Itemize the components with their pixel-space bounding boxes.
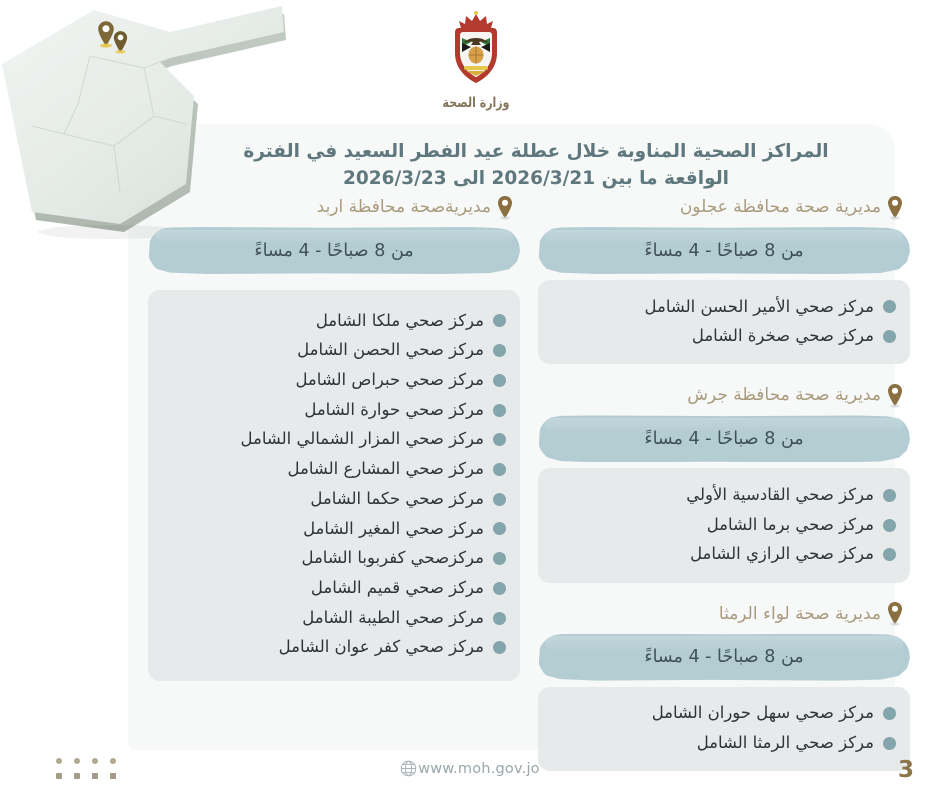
list-item: مركز صحي الطيبة الشامل — [162, 603, 506, 633]
center-name: مركز صحي حكما الشامل — [310, 486, 484, 513]
section-jerash: مديرية صحة محافظة جرش من 8 صباحًا - 4 مس… — [538, 378, 910, 582]
center-name: مركز صحي المزار الشمالي الشامل — [241, 426, 484, 453]
center-name: مركز صحي الأمير الحسن الشامل — [645, 294, 874, 321]
section-header: مديريةصحة محافظة اربد — [148, 190, 520, 224]
list-item: مركز صحي المزار الشمالي الشامل — [162, 425, 506, 455]
list-item: مركز صحي الحصن الشامل — [162, 336, 506, 366]
hours-text: من 8 صباحًا - 4 مساءً — [644, 647, 803, 667]
bullet-icon — [493, 404, 506, 417]
bullet-icon — [493, 582, 506, 595]
bullet-icon — [493, 314, 506, 327]
directorate-title: مديريةصحة محافظة اربد — [317, 197, 491, 217]
location-pin-icon-secondary — [112, 30, 129, 54]
location-pin-icon — [496, 195, 514, 220]
center-name: مركز صحي ملكا الشامل — [316, 308, 484, 335]
center-name: مركز صحي القادسية الأولي — [686, 482, 874, 509]
center-list: مركز صحي ملكا الشامل مركز صحي الحصن الشا… — [148, 290, 520, 681]
section-header: مديرية صحة لواء الرمثا — [538, 597, 910, 631]
list-item: مركز صحي الأمير الحسن الشامل — [552, 292, 896, 322]
bullet-icon — [493, 493, 506, 506]
title-line-2: الواقعة ما بين 2026/3/21 الى 2026/3/23 — [212, 165, 860, 192]
center-name: مركز صحي حوارة الشامل — [304, 397, 484, 424]
list-item: مركز صحي المغير الشامل — [162, 514, 506, 544]
center-name: مركز صحي سهل حوران الشامل — [652, 700, 874, 727]
hours-banner: من 8 صباحًا - 4 مساءً — [538, 634, 910, 681]
section-ramtha: مديرية صحة لواء الرمثا من 8 صباحًا - 4 م… — [538, 597, 910, 771]
bullet-icon — [493, 344, 506, 357]
list-item: مركزصحي كفربوبا الشامل — [162, 544, 506, 574]
center-list: مركز صحي الأمير الحسن الشامل مركز صحي صخ… — [538, 280, 910, 364]
section-header: مديرية صحة محافظة جرش — [538, 378, 910, 412]
center-list: مركز صحي سهل حوران الشامل مركز صحي الرمث… — [538, 687, 910, 771]
center-name: مركز صحي حبراص الشامل — [295, 367, 484, 394]
globe-icon — [400, 760, 417, 777]
page-title: المراكز الصحية المناوبة خلال عطلة عيد ال… — [212, 138, 860, 193]
infographic-page: وزارة الصحة المراكز الصحية المناوبة خلال… — [0, 0, 940, 788]
location-pin-icon — [886, 383, 904, 408]
list-item: مركز صحي حوارة الشامل — [162, 395, 506, 425]
center-name: مركز صحي قميم الشامل — [311, 575, 484, 602]
location-pin-icon — [886, 601, 904, 626]
bullet-icon — [493, 522, 506, 535]
column-left: مديريةصحة محافظة اربد من 8 صباحًا - 4 مس… — [148, 190, 520, 685]
bullet-icon — [883, 737, 896, 750]
bullet-icon — [883, 707, 896, 720]
list-item: مركز صحي قميم الشامل — [162, 573, 506, 603]
bullet-icon — [493, 433, 506, 446]
section-ajloun: مديرية صحة محافظة عجلون من 8 صباحًا - 4 … — [538, 190, 910, 364]
list-item: مركز صحي القادسية الأولي — [552, 480, 896, 510]
bullet-icon — [883, 300, 896, 313]
center-name: مركز صحي المشارع الشامل — [288, 456, 484, 483]
center-name: مركز صحي الرازي الشامل — [690, 541, 874, 568]
section-irbid: مديريةصحة محافظة اربد من 8 صباحًا - 4 مس… — [148, 190, 520, 681]
bullet-icon — [493, 374, 506, 387]
title-line-1: المراكز الصحية المناوبة خلال عطلة عيد ال… — [212, 138, 860, 165]
page-number: 3 — [898, 757, 914, 783]
bullet-icon — [493, 612, 506, 625]
center-name: مركز صحي كفر عوان الشامل — [279, 634, 484, 661]
list-item: مركز صحي المشارع الشامل — [162, 455, 506, 485]
list-item: مركز صحي ملكا الشامل — [162, 306, 506, 336]
hours-text: من 8 صباحًا - 4 مساءً — [644, 429, 803, 449]
list-item: مركز صحي الرازي الشامل — [552, 540, 896, 570]
hours-banner: من 8 صباحًا - 4 مساءً — [148, 227, 520, 274]
website-url: www.moh.gov.jo — [418, 761, 540, 777]
bullet-icon — [883, 489, 896, 502]
center-list: مركز صحي القادسية الأولي مركز صحي برما ا… — [538, 468, 910, 582]
bullet-icon — [493, 552, 506, 565]
center-name: مركز صحي برما الشامل — [707, 512, 874, 539]
column-right: مديرية صحة محافظة عجلون من 8 صباحًا - 4 … — [538, 190, 910, 775]
bullet-icon — [493, 641, 506, 654]
website-link[interactable]: www.moh.gov.jo — [0, 760, 940, 777]
list-item: مركز صحي كفر عوان الشامل — [162, 633, 506, 663]
bullet-icon — [493, 463, 506, 476]
directorate-title: مديرية صحة محافظة جرش — [687, 385, 881, 405]
center-name: مركز صحي الحصن الشامل — [297, 337, 484, 364]
list-item: مركز صحي حكما الشامل — [162, 484, 506, 514]
center-name: مركز صحي الرمثا الشامل — [697, 730, 874, 757]
list-item: مركز صحي برما الشامل — [552, 510, 896, 540]
list-item: مركز صحي الرمثا الشامل — [552, 728, 896, 758]
bullet-icon — [883, 519, 896, 532]
directorate-title: مديرية صحة محافظة عجلون — [680, 197, 881, 217]
list-item: مركز صحي صخرة الشامل — [552, 322, 896, 352]
jordan-coat-of-arms — [448, 10, 504, 94]
center-name: مركز صحي الطيبة الشامل — [302, 605, 484, 632]
center-name: مركز صحي المغير الشامل — [303, 516, 484, 543]
hours-banner: من 8 صباحًا - 4 مساءً — [538, 227, 910, 274]
hours-text: من 8 صباحًا - 4 مساءً — [644, 241, 803, 261]
bullet-icon — [883, 330, 896, 343]
list-item: مركز صحي حبراص الشامل — [162, 365, 506, 395]
hours-banner: من 8 صباحًا - 4 مساءً — [538, 415, 910, 462]
list-item: مركز صحي سهل حوران الشامل — [552, 699, 896, 729]
location-pin-icon — [886, 195, 904, 220]
bullet-icon — [883, 548, 896, 561]
center-name: مركز صحي صخرة الشامل — [692, 323, 874, 350]
hours-text: من 8 صباحًا - 4 مساءً — [254, 241, 413, 261]
section-header: مديرية صحة محافظة عجلون — [538, 190, 910, 224]
ministry-name: وزارة الصحة — [432, 94, 520, 110]
center-name: مركزصحي كفربوبا الشامل — [301, 545, 484, 572]
directorate-title: مديرية صحة لواء الرمثا — [719, 604, 881, 624]
